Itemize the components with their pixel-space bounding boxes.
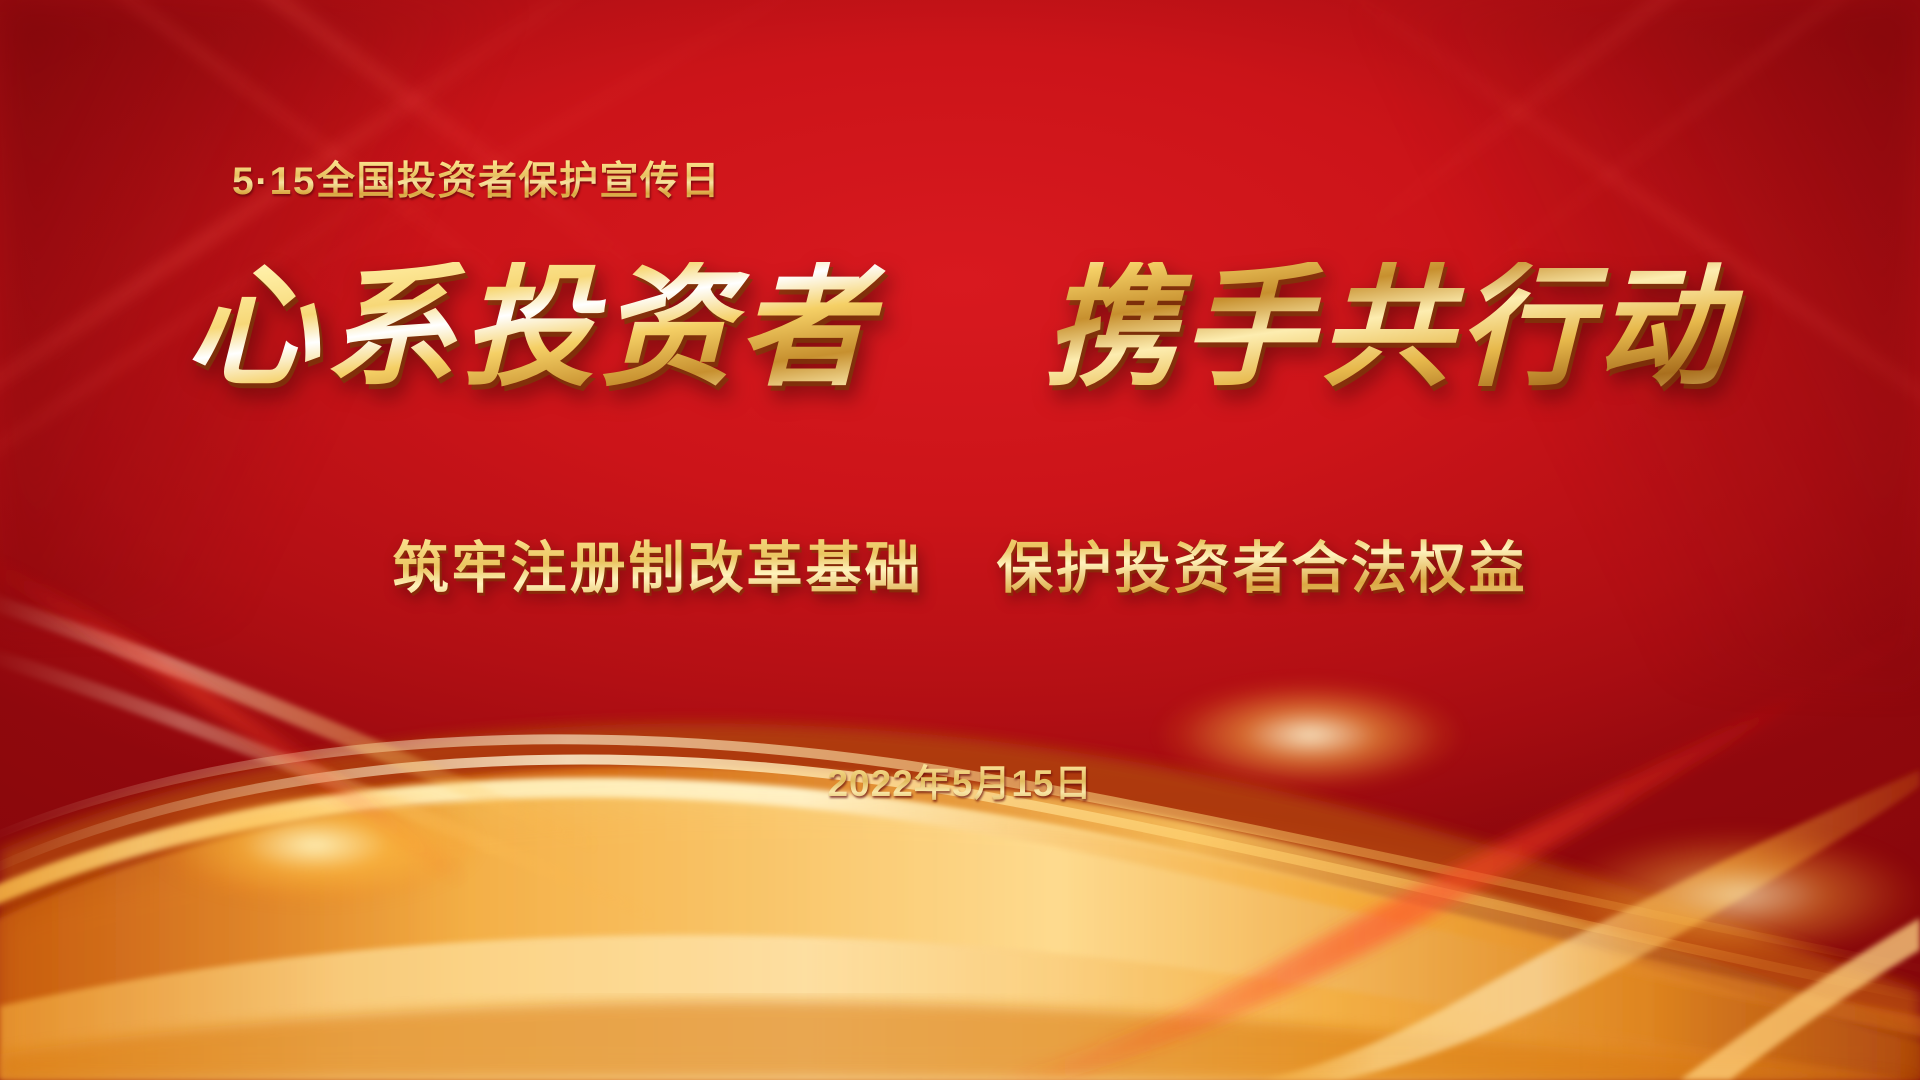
poster-canvas: 5·15全国投资者保护宣传日 心系投资者 携手共行动 筑牢注册制改革基础 保护投… [0, 0, 1920, 1080]
poster-subheadline: 筑牢注册制改革基础 保护投资者合法权益 [0, 524, 1920, 605]
subheadline-part-2: 保护投资者合法权益 [997, 537, 1528, 600]
subheadline-part-1: 筑牢注册制改革基础 [392, 537, 923, 600]
headline-part-2: 携手共行动 [1044, 250, 1734, 405]
poster-date: 2022年5月15日 [0, 753, 1920, 807]
campaign-eyebrow-text: 5·15全国投资者保护宣传日 [232, 150, 721, 206]
poster-content: 5·15全国投资者保护宣传日 心系投资者 携手共行动 筑牢注册制改革基础 保护投… [0, 0, 1920, 1080]
headline-part-1: 心系投资者 [186, 250, 876, 405]
poster-headline: 心系投资者 携手共行动 [0, 262, 1920, 394]
